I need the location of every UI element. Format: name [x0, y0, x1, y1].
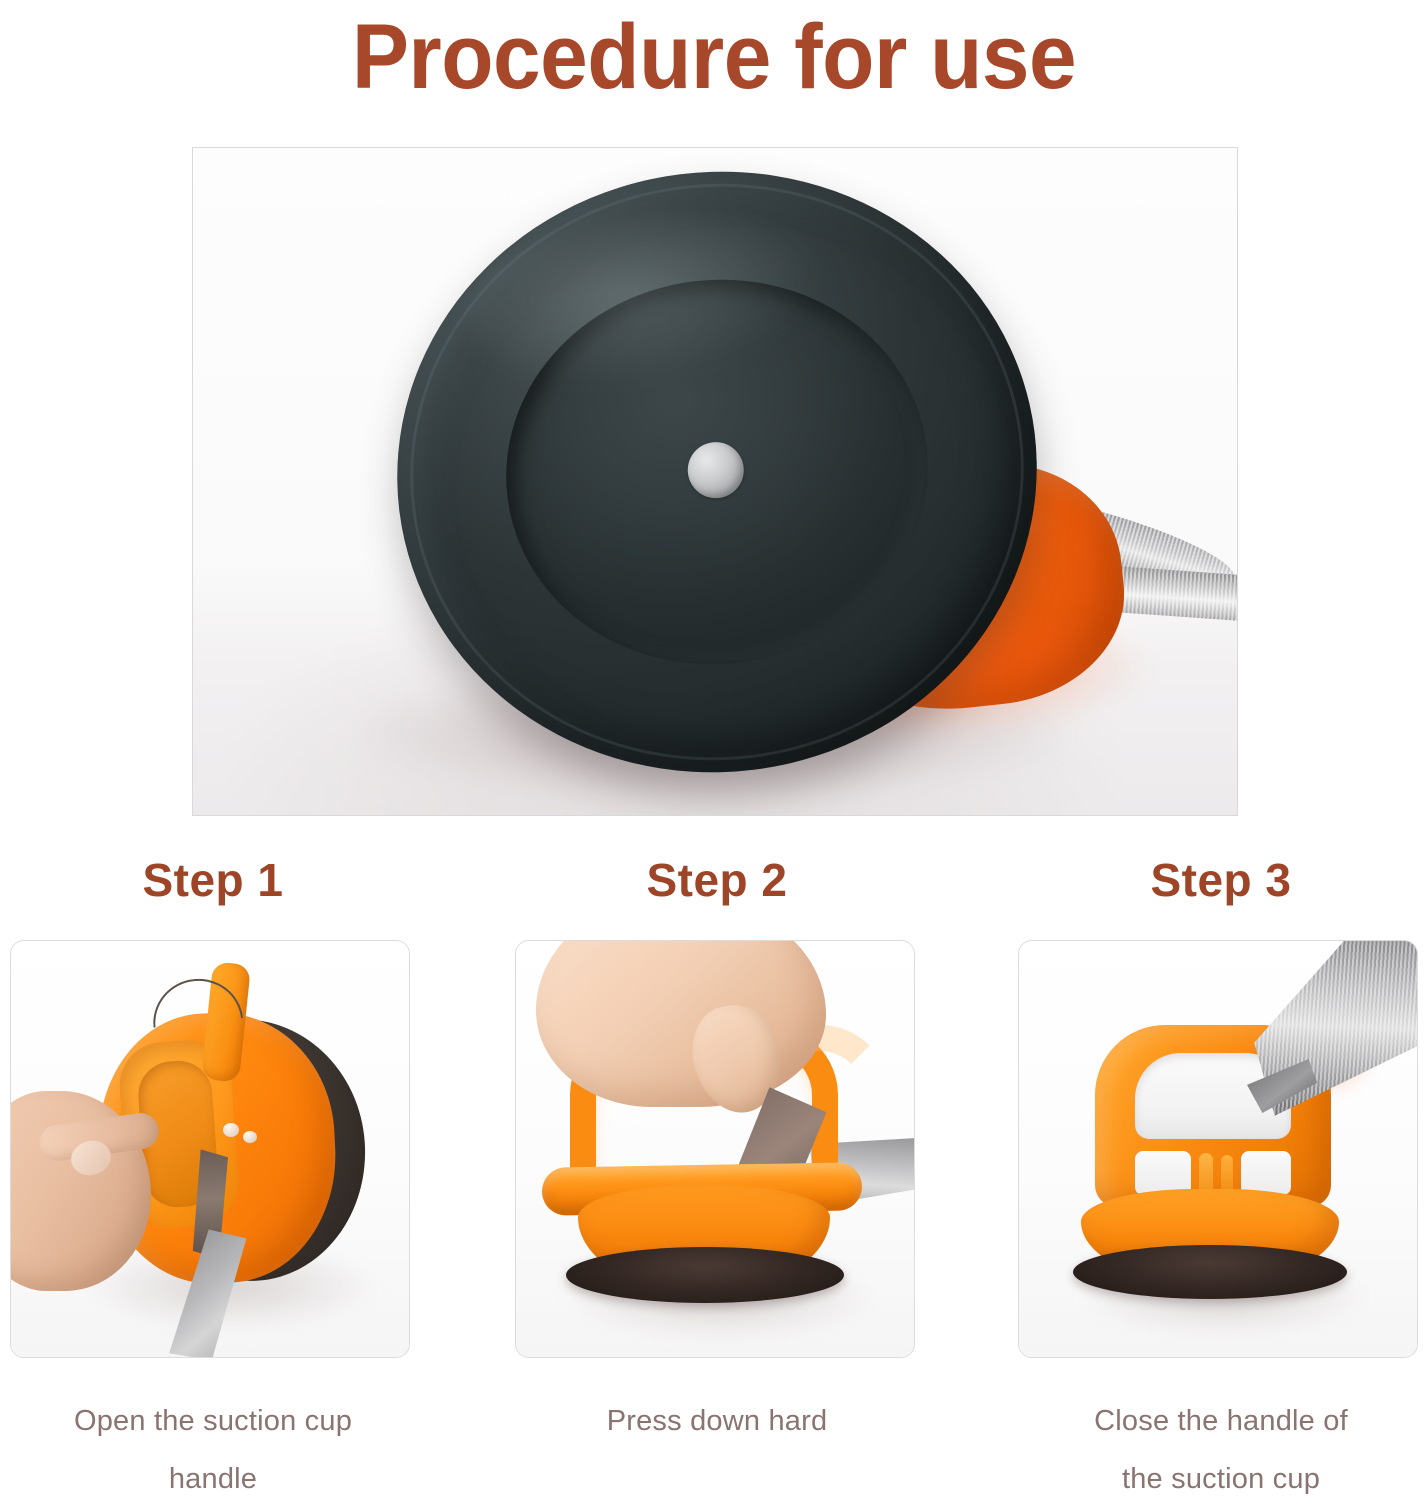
step-item-1: Step 1 [8, 852, 418, 1500]
step-item-2: Step 2 Press down hard [512, 852, 922, 1450]
step-caption-3: Close the handle of the suction cup [1016, 1392, 1426, 1500]
step1-screw-b-icon [243, 1131, 257, 1143]
step-caption-1-line-2: handle [8, 1450, 418, 1500]
step-photo-3 [1018, 940, 1418, 1358]
step-caption-2-line-1: Press down hard [512, 1392, 922, 1450]
product-hero-photo [192, 147, 1238, 816]
step-caption-1: Open the suction cup handle [8, 1392, 418, 1500]
step-heading-3: Step 3 [1016, 852, 1426, 908]
step1-screw-a-icon [223, 1123, 239, 1137]
procedure-page: Procedure for use Step 1 [0, 0, 1428, 1500]
step-heading-1: Step 1 [8, 852, 418, 908]
step-caption-3-line-2: the suction cup [1016, 1450, 1426, 1500]
step3-handle-opening-right [1241, 1151, 1291, 1195]
step3-rubber-pad [1073, 1245, 1347, 1299]
step2-hand [536, 940, 826, 1107]
step2-rubber-pad [566, 1247, 844, 1303]
step-photo-1-backdrop [11, 941, 409, 1357]
step-photo-1 [10, 940, 410, 1358]
step-caption-2: Press down hard [512, 1392, 922, 1450]
page-title: Procedure for use [50, 6, 1378, 108]
step-caption-3-line-1: Close the handle of [1016, 1392, 1426, 1450]
hero-suction-pad [363, 147, 1071, 809]
step-caption-1-line-1: Open the suction cup [8, 1392, 418, 1450]
step-photo-3-backdrop [1019, 941, 1417, 1357]
step-photo-2-backdrop [516, 941, 914, 1357]
step-heading-2: Step 2 [512, 852, 922, 908]
step-photo-2 [515, 940, 915, 1358]
step-item-3: Step 3 Close the hand [1016, 852, 1426, 1500]
